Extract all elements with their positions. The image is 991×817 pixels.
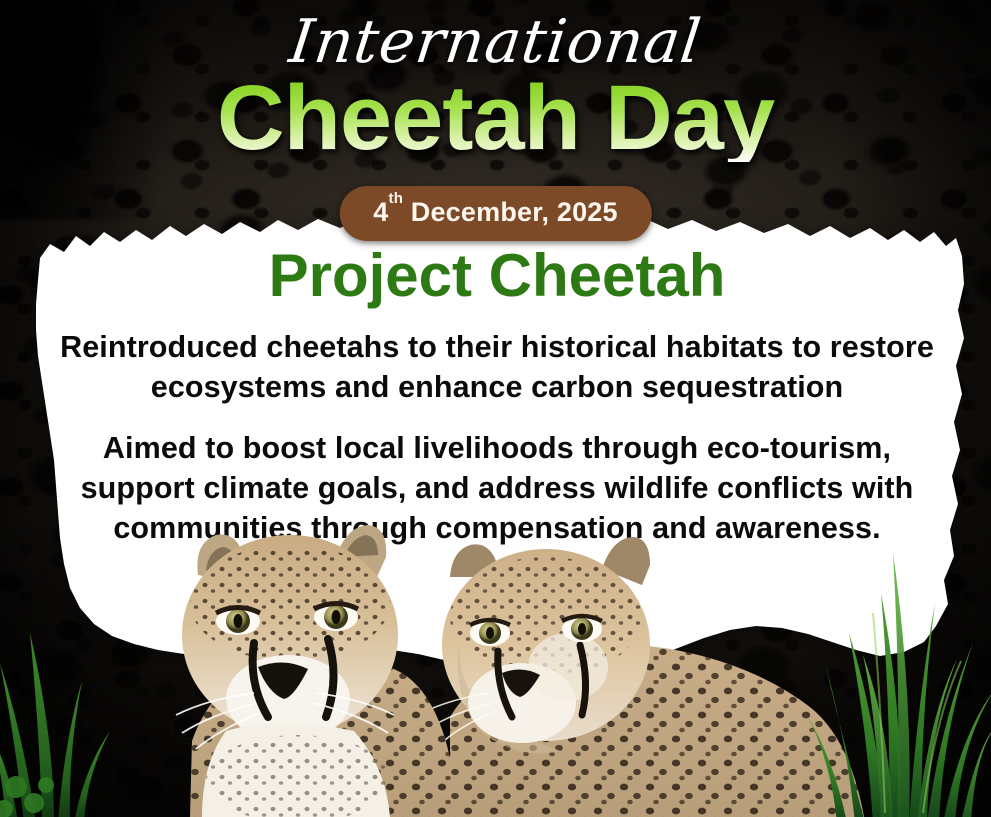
body-paragraph-2: Aimed to boost local livelihoods through…: [57, 429, 937, 548]
date-rest: December, 2025: [403, 197, 618, 227]
date-ordinal-suffix: th: [389, 190, 404, 207]
date-day: 4: [373, 197, 388, 227]
poster-canvas: International Cheetah Day Project Cheeta…: [0, 0, 991, 817]
card-content: Project Cheetah Reintroduced cheetahs to…: [24, 214, 970, 692]
project-title: Project Cheetah: [24, 246, 970, 306]
body-paragraph-1: Reintroduced cheetahs to their historica…: [57, 328, 937, 407]
date-badge: 4th December, 2025: [339, 186, 651, 241]
